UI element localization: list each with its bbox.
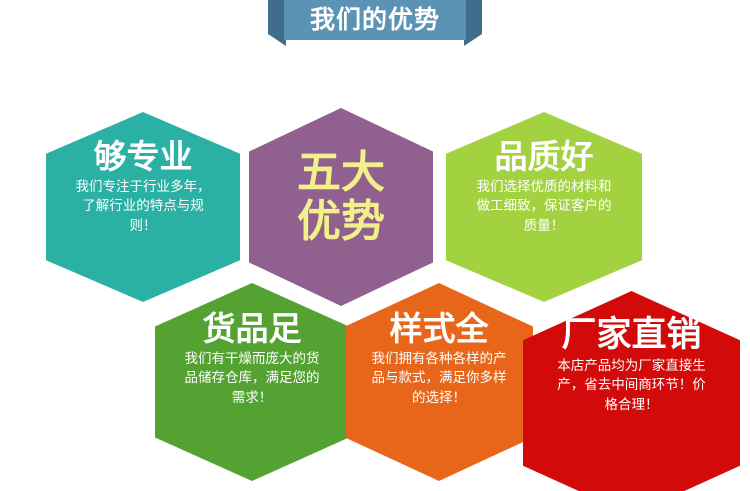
hexagon-desc-factory-direct: 本店产品均为厂家直接生产，省去中间商环节！价格合理！ (535, 357, 728, 416)
hexagon-card-factory-direct[interactable]: 厂家直销 本店产品均为厂家直接生产，省去中间商环节！价格合理！ (523, 291, 740, 491)
hexagon-title-factory-direct: 厂家直销 (535, 317, 728, 354)
hexagon-card-styles[interactable]: 样式全 我们拥有各种各样的产品与款式，满足你多样的选择！ (345, 283, 533, 481)
hexagon-title-stock: 货品足 (167, 312, 337, 347)
page-title: 我们的优势 (284, 0, 466, 40)
hexagon-title-professional: 够专业 (58, 140, 228, 175)
hexagon-title-five-advantages: 五大优势 (261, 148, 421, 247)
header-ribbon-banner: 我们的优势 (268, 0, 482, 46)
hexagon-desc-quality: 我们选择优质的材料和做工细致，保证客户的质量！ (458, 178, 630, 237)
infographic-canvas: 我们的优势 够专业 我们专注于行业多年，了解行业的特点与规则！ 五大优势 品质好… (0, 0, 750, 491)
hexagon-card-quality[interactable]: 品质好 我们选择优质的材料和做工细致，保证客户的质量！ (446, 112, 642, 302)
hexagon-desc-styles: 我们拥有各种各样的产品与款式，满足你多样的选择！ (357, 350, 521, 409)
hexagon-desc-stock: 我们有干燥而庞大的货品储存仓库，满足您的需求！ (167, 350, 337, 409)
hexagon-desc-professional: 我们专注于行业多年，了解行业的特点与规则！ (58, 178, 228, 237)
hexagon-title-styles: 样式全 (357, 312, 521, 347)
hexagon-card-stock[interactable]: 货品足 我们有干燥而庞大的货品储存仓库，满足您的需求！ (155, 283, 349, 481)
hexagon-title-quality: 品质好 (458, 140, 630, 175)
hexagon-card-professional[interactable]: 够专业 我们专注于行业多年，了解行业的特点与规则！ (46, 112, 240, 302)
hexagon-card-five-advantages[interactable]: 五大优势 (249, 108, 433, 306)
ribbon-tail-right (464, 0, 482, 46)
